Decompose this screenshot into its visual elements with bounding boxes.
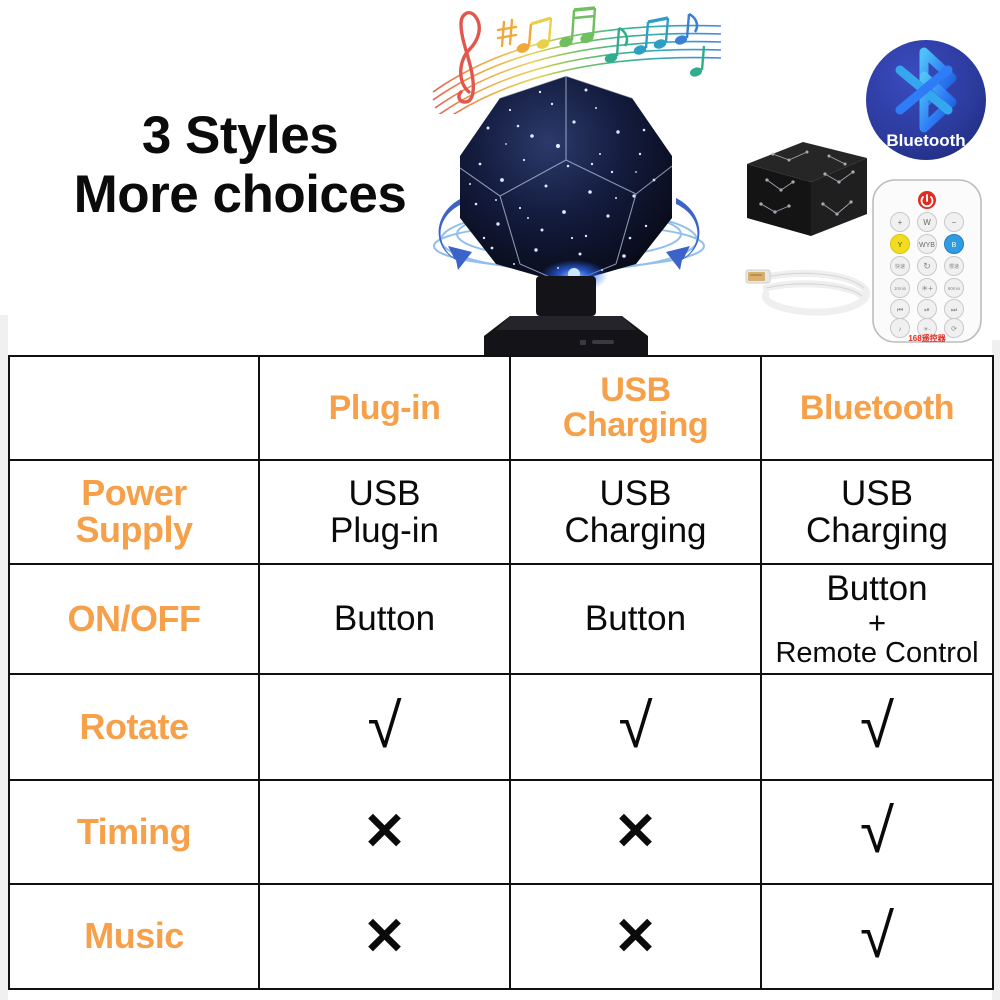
header-label-plug-in: Plug-in — [260, 391, 509, 426]
check-icon: √ — [860, 801, 894, 863]
comparison-table: Plug-in USB Charging Bluetooth Power Sup — [8, 355, 994, 990]
headline-line-2: More choices — [40, 165, 440, 224]
cell-text: USB — [762, 475, 992, 512]
row-label-music: Music — [9, 884, 259, 989]
svg-text:☀+: ☀+ — [921, 284, 933, 293]
svg-text:B: B — [952, 242, 957, 249]
svg-text:10min: 10min — [894, 286, 907, 291]
usb-cable — [736, 244, 884, 330]
table-row-rotate: Rotate √ √ √ — [9, 674, 993, 780]
svg-text:+: + — [898, 218, 903, 227]
cell-timing-bluetooth: √ — [761, 780, 993, 884]
svg-text:☀-: ☀- — [923, 326, 930, 333]
cell-text: Charging — [511, 512, 760, 549]
cell-text: Button — [762, 570, 992, 607]
table-row-on-off: ON/OFF Button Button Button + Remote Con… — [9, 564, 993, 674]
cross-icon: ✕ — [363, 806, 407, 858]
cell-text: Button — [260, 600, 509, 637]
cell-rotate-usb-charging: √ — [510, 674, 761, 780]
constellation-gift-box — [733, 124, 879, 248]
cell-text: Plug-in — [260, 512, 509, 549]
svg-text:⏯: ⏯ — [924, 307, 930, 314]
svg-text:W: W — [923, 218, 931, 227]
header-cell-bluetooth: Bluetooth — [761, 356, 993, 460]
table-row-power-supply: Power Supply USB Plug-in USB Charging — [9, 460, 993, 564]
cell-text: Charging — [762, 512, 992, 549]
table-row-timing: Timing ✕ ✕ √ — [9, 780, 993, 884]
svg-text:−: − — [952, 218, 957, 227]
cell-music-plug-in: ✕ — [259, 884, 510, 989]
cell-rotate-plug-in: √ — [259, 674, 510, 780]
svg-text:⟳: ⟳ — [951, 326, 957, 333]
cross-icon: ✕ — [363, 911, 407, 963]
table-header-row: Plug-in USB Charging Bluetooth — [9, 356, 993, 460]
svg-text:60min: 60min — [948, 286, 961, 291]
row-label-supply: Supply — [75, 509, 192, 550]
cell-text: Button — [511, 600, 760, 637]
check-icon: √ — [860, 696, 894, 758]
header-cell-empty — [9, 356, 259, 460]
hero-section: 3 Styles More choices — [0, 0, 1000, 355]
headline-line-1: 3 Styles — [40, 106, 440, 165]
svg-text:⏭: ⏭ — [951, 307, 958, 314]
svg-text:⏮: ⏮ — [897, 307, 903, 314]
check-icon: √ — [367, 696, 401, 758]
svg-text:WYB: WYB — [919, 242, 935, 249]
cell-music-bluetooth: √ — [761, 884, 993, 989]
remote-control: + W − Y WYB B 快速 ↻ 慢速 10min ☀+ 60min — [869, 178, 985, 344]
svg-text:Y: Y — [898, 242, 903, 249]
page-edge-left — [0, 315, 8, 1000]
svg-text:↻: ↻ — [923, 261, 931, 271]
cross-icon: ✕ — [614, 911, 658, 963]
cell-onoff-bluetooth: Button + Remote Control — [761, 564, 993, 674]
svg-text:慢速: 慢速 — [949, 263, 959, 270]
table-row-music: Music ✕ ✕ √ — [9, 884, 993, 989]
cell-rotate-bluetooth: √ — [761, 674, 993, 780]
bluetooth-badge: Bluetooth — [862, 36, 990, 164]
header-label-bluetooth: Bluetooth — [762, 391, 992, 426]
cell-text: USB — [260, 475, 509, 512]
remote-model-label: 168遥控器 — [908, 333, 946, 343]
cell-timing-plug-in: ✕ — [259, 780, 510, 884]
cell-onoff-usb-charging: Button — [510, 564, 761, 674]
header-cell-plug-in: Plug-in — [259, 356, 510, 460]
product-comparison-infographic: 3 Styles More choices — [0, 0, 1000, 1000]
row-label-power: Power — [81, 472, 187, 513]
check-icon: √ — [618, 696, 652, 758]
row-label-timing: Timing — [9, 780, 259, 884]
header-label-usb: USB — [600, 371, 670, 409]
header-label-charging: Charging — [563, 406, 708, 444]
check-icon: √ — [860, 906, 894, 968]
cell-text: USB — [511, 475, 760, 512]
header-cell-usb-charging: USB Charging — [510, 356, 761, 460]
cross-icon: ✕ — [614, 806, 658, 858]
bluetooth-badge-label: Bluetooth — [886, 131, 965, 150]
page-title: 3 Styles More choices — [40, 106, 440, 225]
star-projector-lamp — [440, 68, 692, 360]
cell-power-bluetooth: USB Charging — [761, 460, 993, 564]
cell-text: Remote Control — [762, 638, 992, 669]
svg-text:快速: 快速 — [895, 263, 905, 270]
cell-timing-usb-charging: ✕ — [510, 780, 761, 884]
cell-text: + — [762, 607, 992, 638]
cell-music-usb-charging: ✕ — [510, 884, 761, 989]
cell-power-usb-charging: USB Charging — [510, 460, 761, 564]
cell-onoff-plug-in: Button — [259, 564, 510, 674]
svg-text:♪: ♪ — [898, 326, 902, 333]
cell-power-plug-in: USB Plug-in — [259, 460, 510, 564]
row-label-power-supply: Power Supply — [9, 460, 259, 564]
row-label-rotate: Rotate — [9, 674, 259, 780]
row-label-on-off: ON/OFF — [9, 564, 259, 674]
